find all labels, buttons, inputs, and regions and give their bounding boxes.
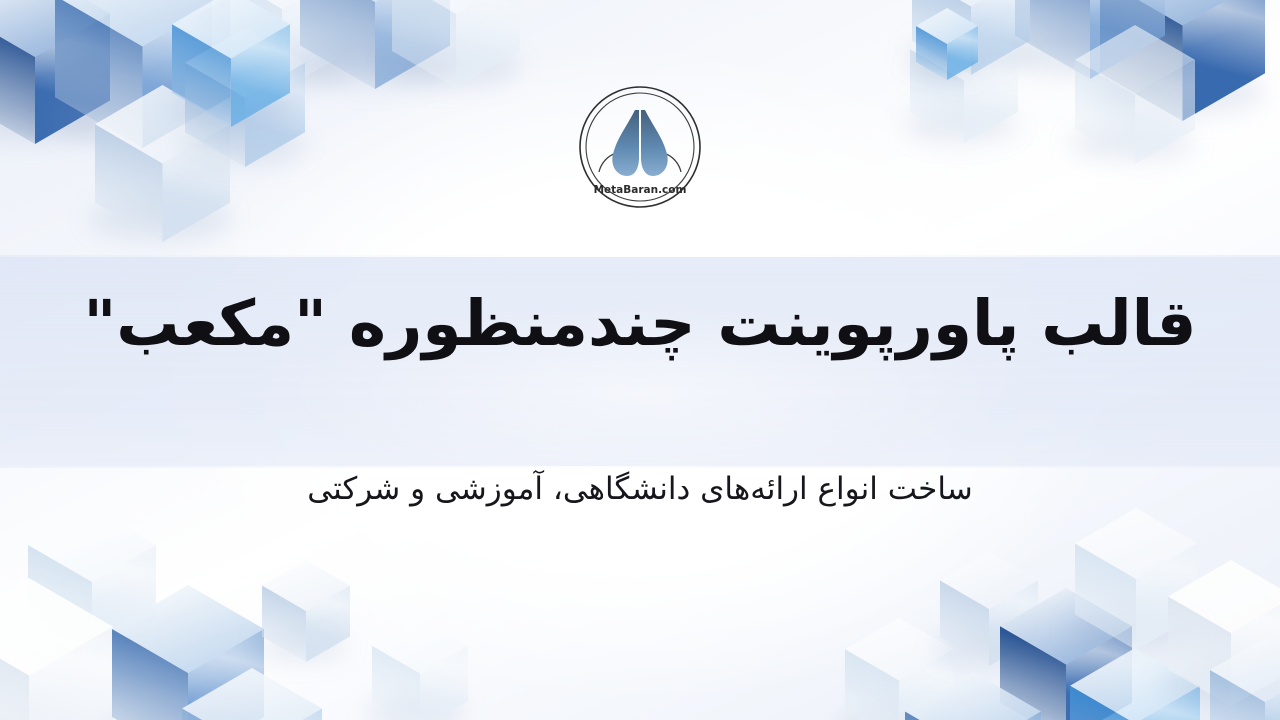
- cube-top-azure: [172, 0, 290, 127]
- cube-bc-ice: [372, 618, 468, 720]
- cube-tr-glass: [1075, 25, 1195, 164]
- slide-title: قالب پاورپوینت چندمنظوره "مکعب": [0, 285, 1280, 364]
- title-block: قالب پاورپوینت چندمنظوره "مکعب": [0, 285, 1280, 364]
- logo-wordmark: MetaBaran.com: [594, 184, 687, 196]
- cube-face-top: [905, 672, 1041, 720]
- slide-subtitle: ساخت انواع ارائه‌های دانشگاهی، آموزشی و …: [0, 467, 1280, 512]
- cube-bl-pale: [262, 560, 350, 662]
- subtitle-block: ساخت انواع ارائه‌های دانشگاهی، آموزشی و …: [0, 467, 1280, 512]
- cube-top-glass: [392, 0, 520, 88]
- cube-bl-slab2: [182, 668, 322, 720]
- cube-bl-white-slab: [0, 578, 113, 720]
- logo-butterfly-mark: [612, 110, 667, 176]
- cube-br-edge: [1210, 638, 1280, 720]
- presentation-slide: MetaBaran.com قالب پاورپوینت چندمنظوره "…: [0, 0, 1280, 720]
- logo-swirl-arcs: [599, 152, 681, 172]
- cube-br-mid-slab: [905, 672, 1041, 720]
- cube-face-top: [182, 668, 322, 720]
- metabaran-logo[interactable]: MetaBaran.com: [573, 80, 707, 214]
- cube-tr-tiny-azure: [916, 8, 978, 80]
